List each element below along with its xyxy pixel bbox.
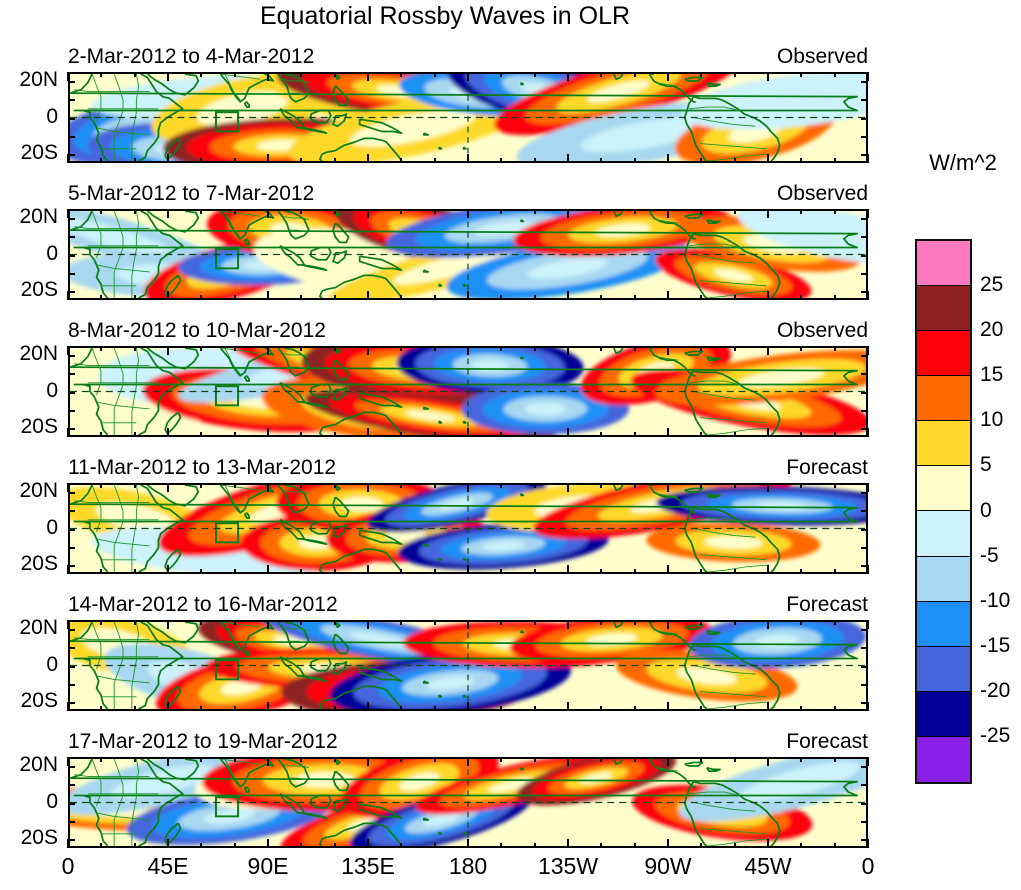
x-axis-tick [334,483,336,488]
x-axis-tick [734,706,736,711]
panel-status-label: Forecast [786,456,868,480]
x-axis-tick [534,72,536,77]
x-axis-tick [367,346,369,355]
map-panel-5[interactable]: 14-Mar-2012 to 16-Mar-2012Forecast20N020… [68,620,868,711]
olr-anomaly-field [70,348,866,435]
x-axis-tick [134,569,136,574]
x-axis-tick [767,839,769,848]
y-axis-tick [68,136,75,138]
y-axis-tick [861,81,868,83]
map-panel-6[interactable]: 17-Mar-2012 to 19-Mar-2012Forecast20N020… [68,757,868,848]
x-axis-tick [634,209,636,214]
x-axis-tick [100,706,102,711]
x-axis-tick [167,72,169,81]
x-axis-tick [234,483,236,488]
x-axis-tick [334,72,336,77]
x-axis-tick [167,209,169,218]
x-axis-tick [767,620,769,629]
y-tick-label: 0 [0,105,58,129]
x-axis-tick [500,432,502,437]
x-axis-tick [567,428,569,437]
y-tick-label: 20N [0,342,58,366]
x-axis-tick [100,569,102,574]
y-tick-label: 0 [0,379,58,403]
x-axis-tick [367,702,369,711]
y-axis-tick [68,510,75,512]
x-axis-tick [234,706,236,711]
x-axis-tick [634,483,636,488]
x-axis-tick [167,428,169,437]
y-tick-label: 20S [0,278,58,302]
x-axis-tick [567,565,569,574]
x-axis-tick [734,158,736,163]
x-axis-tick [400,706,402,711]
x-axis-tick [634,569,636,574]
x-axis-tick [667,620,669,629]
x-axis-tick [234,843,236,848]
x-axis-tick [267,291,269,300]
x-axis-tick [800,483,802,488]
x-axis-tick [300,158,302,163]
x-axis-tick [534,158,536,163]
x-axis-tick [467,565,469,574]
colorbar-swatch [917,376,970,421]
y-axis-tick [861,255,868,257]
x-axis-tick [667,72,669,81]
x-axis-tick [434,620,436,625]
x-axis-tick [567,209,569,218]
x-axis-tick [267,702,269,711]
colorbar[interactable] [915,239,972,784]
x-tick-label: 135E [323,853,413,880]
y-axis-tick [68,821,75,823]
x-axis-tick [267,483,269,492]
map-panel-3[interactable]: 8-Mar-2012 to 10-Mar-2012Observed20N020S [68,346,868,437]
y-axis-tick [861,510,868,512]
y-tick-label: 20S [0,141,58,165]
x-axis-tick [300,72,302,77]
x-tick-label: 90E [223,853,313,880]
y-axis-tick [861,784,868,786]
x-axis-tick [667,702,669,711]
x-axis-tick [334,569,336,574]
x-axis-tick [467,620,469,629]
colorbar-tick-label: -15 [980,634,1010,658]
x-axis-tick [534,483,536,488]
x-axis-tick [434,569,436,574]
figure-title: Equatorial Rossby Waves in OLR [0,2,890,31]
x-axis-tick [834,757,836,762]
x-axis-tick [800,620,802,625]
x-axis-tick [567,483,569,492]
x-axis-tick [734,72,736,77]
x-axis-tick [634,295,636,300]
x-axis-tick [100,209,102,214]
y-axis-tick [68,255,75,257]
x-axis-tick [734,620,736,625]
x-axis-tick [334,706,336,711]
panel-plot-area [68,620,868,711]
colorbar-tick-label: 10 [980,408,1003,432]
y-tick-label: 20N [0,479,58,503]
x-axis-tick [534,346,536,351]
x-axis-tick [500,569,502,574]
colorbar-tick-label: -5 [980,544,999,568]
x-axis-tick [67,757,69,766]
x-axis-tick [800,843,802,848]
olr-anomaly-field [70,74,866,161]
y-axis-tick [861,647,868,649]
x-axis-tick [667,839,669,848]
x-axis-tick [134,483,136,488]
x-axis-tick [600,757,602,762]
x-axis-tick [367,72,369,81]
x-axis-tick [234,620,236,625]
x-axis-tick [534,569,536,574]
x-axis-tick [767,346,769,355]
y-axis-tick [68,273,75,275]
y-axis-tick [68,355,75,357]
x-axis-tick [100,757,102,762]
y-axis-tick [68,784,75,786]
y-axis-tick [68,839,75,841]
y-axis-tick [68,154,75,156]
y-axis-tick [68,647,75,649]
x-axis-tick [200,295,202,300]
x-axis-tick [534,620,536,625]
x-axis-tick [800,158,802,163]
y-axis-tick [68,392,75,394]
panel-plot-area [68,209,868,300]
x-axis-tick [867,154,869,163]
x-axis-tick [267,839,269,848]
x-axis-tick [367,565,369,574]
y-axis-tick [68,629,75,631]
x-tick-label: 135W [523,853,613,880]
x-axis-tick [600,295,602,300]
x-axis-tick [334,346,336,351]
x-axis-tick [334,757,336,762]
x-axis-tick [300,432,302,437]
y-axis-tick [68,803,75,805]
y-axis-tick [68,373,75,375]
y-axis-tick [861,529,868,531]
x-axis-tick [767,209,769,218]
olr-anomaly-field [70,759,866,846]
colorbar-swatch [917,331,970,376]
panel-plot-area [68,757,868,848]
x-axis-tick [434,158,436,163]
figure-root: Equatorial Rossby Waves in OLR 2-Mar-201… [0,0,1021,890]
x-axis-tick [600,158,602,163]
colorbar-tick-label: 20 [980,318,1003,342]
map-panel-1[interactable]: 2-Mar-2012 to 4-Mar-2012Observed20N020S [68,72,868,163]
x-axis-tick [767,757,769,766]
x-axis-tick [700,295,702,300]
x-axis-tick [234,209,236,214]
x-axis-tick [834,72,836,77]
y-axis-tick [68,428,75,430]
x-axis-tick [300,209,302,214]
x-axis-tick [867,72,869,81]
x-axis-tick [400,295,402,300]
y-axis-tick [861,118,868,120]
x-axis-tick [600,209,602,214]
x-axis-tick [600,843,602,848]
x-axis-tick [567,346,569,355]
x-axis-tick [467,209,469,218]
x-axis-tick [300,620,302,625]
colorbar-swatch [917,647,970,692]
x-axis-tick [67,620,69,629]
y-axis-tick [68,684,75,686]
x-axis-tick [367,839,369,848]
x-axis-tick [334,843,336,848]
panel-status-label: Observed [777,319,868,343]
x-axis-tick [467,72,469,81]
x-tick-label: 45E [123,853,213,880]
x-axis-tick [567,839,569,848]
x-axis-tick [134,209,136,214]
x-axis-tick [200,346,202,351]
y-axis-tick [861,684,868,686]
x-axis-tick [834,432,836,437]
x-axis-tick [434,432,436,437]
x-axis-tick [167,346,169,355]
y-axis-tick [68,81,75,83]
x-axis-tick [100,843,102,848]
colorbar-swatch [917,286,970,331]
x-axis-tick [667,346,669,355]
x-axis-tick [200,432,202,437]
x-axis-tick [534,757,536,762]
y-axis-tick [861,821,868,823]
colorbar-swatch [917,692,970,737]
x-axis-tick [300,483,302,488]
colorbar-swatch [917,557,970,602]
x-axis-tick [567,757,569,766]
x-axis-tick [367,620,369,629]
x-axis-tick [534,209,536,214]
y-axis-tick [68,547,75,549]
x-axis-tick [100,620,102,625]
x-axis-tick [434,209,436,214]
x-axis-tick [500,620,502,625]
x-axis-tick [834,346,836,351]
colorbar-swatch [917,511,970,556]
x-axis-tick [300,346,302,351]
x-axis-tick [700,72,702,77]
x-axis-tick [667,209,669,218]
x-axis-tick [767,72,769,81]
x-tick-label: 0 [823,853,913,880]
x-axis-tick [634,432,636,437]
x-axis-tick [200,569,202,574]
panel-plot-area [68,483,868,574]
colorbar-swatch [917,421,970,466]
y-axis-tick [68,410,75,412]
x-axis-tick [500,295,502,300]
x-axis-tick [767,291,769,300]
x-axis-tick [434,72,436,77]
x-axis-tick [434,843,436,848]
x-axis-tick [834,620,836,625]
x-axis-tick [634,620,636,625]
x-axis-tick [567,702,569,711]
x-axis-tick [234,432,236,437]
x-axis-tick [334,295,336,300]
y-axis-tick [861,218,868,220]
x-axis-tick [167,565,169,574]
y-tick-label: 20N [0,205,58,229]
colorbar-units-label: W/m^2 [908,150,1018,176]
x-axis-tick [500,843,502,848]
y-tick-label: 20N [0,68,58,92]
y-axis-tick [861,492,868,494]
x-axis-tick [234,158,236,163]
map-panel-2[interactable]: 5-Mar-2012 to 7-Mar-2012Observed20N020S [68,209,868,300]
x-axis-tick [667,154,669,163]
y-axis-tick [68,236,75,238]
x-axis-tick [400,158,402,163]
panel-status-label: Observed [777,182,868,206]
y-axis-tick [68,766,75,768]
x-axis-tick [567,291,569,300]
x-axis-tick [734,757,736,762]
x-axis-tick [700,706,702,711]
x-axis-tick [567,154,569,163]
x-axis-tick [300,843,302,848]
x-axis-tick [634,158,636,163]
y-tick-label: 20N [0,753,58,777]
x-axis-tick [734,432,736,437]
y-axis-tick [861,410,868,412]
x-axis-tick [800,706,802,711]
x-axis-tick [634,843,636,848]
x-axis-tick [434,346,436,351]
x-axis-tick [367,483,369,492]
x-axis-tick [200,483,202,488]
x-axis-tick [467,428,469,437]
x-axis-tick [100,72,102,77]
x-axis-tick [200,706,202,711]
x-axis-tick [400,346,402,351]
colorbar-tick-label: -10 [980,589,1010,613]
x-axis-tick [134,432,136,437]
x-axis-tick [800,757,802,762]
colorbar-tick-label: 25 [980,273,1003,297]
x-axis-tick [700,209,702,214]
y-tick-label: 20S [0,552,58,576]
x-axis-tick [467,702,469,711]
panel-status-label: Forecast [786,593,868,617]
y-axis-tick [861,766,868,768]
x-axis-tick [67,702,69,711]
olr-anomaly-field [70,622,866,709]
x-axis-tick [567,72,569,81]
colorbar-tick-label: 15 [980,363,1003,387]
x-axis-tick [867,209,869,218]
colorbar-tick-label: 0 [980,499,992,523]
x-axis-tick [800,569,802,574]
y-axis-tick [68,218,75,220]
x-axis-tick [234,757,236,762]
map-panel-4[interactable]: 11-Mar-2012 to 13-Mar-2012Forecast20N020… [68,483,868,574]
x-axis-tick [867,483,869,492]
x-axis-tick [667,757,669,766]
y-axis-tick [68,666,75,668]
x-axis-tick [800,72,802,77]
panel-plot-area [68,346,868,437]
x-axis-tick [267,346,269,355]
x-axis-tick [534,295,536,300]
x-axis-tick [700,346,702,351]
x-axis-tick [234,346,236,351]
x-axis-tick [734,295,736,300]
x-axis-tick [667,291,669,300]
x-axis-tick [600,72,602,77]
x-axis-tick [434,295,436,300]
x-axis-tick [667,428,669,437]
x-axis-tick [800,209,802,214]
x-axis-tick [300,569,302,574]
x-axis-tick [834,209,836,214]
colorbar-swatch [917,602,970,647]
x-axis-tick [867,565,869,574]
y-axis-tick [861,273,868,275]
x-axis-tick [167,839,169,848]
colorbar-swatch [917,466,970,511]
x-axis-tick [400,72,402,77]
x-axis-tick [867,620,869,629]
x-axis-tick [700,158,702,163]
x-axis-tick [300,295,302,300]
y-axis-tick [861,392,868,394]
y-axis-tick [68,118,75,120]
panel-status-label: Forecast [786,730,868,754]
x-axis-tick [67,154,69,163]
olr-anomaly-field [70,211,866,298]
x-axis-tick [800,346,802,351]
x-axis-tick [100,432,102,437]
x-axis-tick [134,72,136,77]
x-axis-tick [600,432,602,437]
x-axis-tick [67,483,69,492]
x-axis-tick [167,620,169,629]
x-axis-tick [67,209,69,218]
x-axis-tick [200,843,202,848]
x-axis-tick [500,483,502,488]
x-axis-tick [267,620,269,629]
x-axis-tick [700,757,702,762]
x-axis-tick [67,565,69,574]
x-axis-tick [767,483,769,492]
colorbar-tick-label: 5 [980,453,992,477]
x-axis-tick [834,569,836,574]
x-axis-tick [467,483,469,492]
x-axis-tick [734,209,736,214]
x-axis-tick [234,72,236,77]
x-axis-tick [167,154,169,163]
panel-date-range: 8-Mar-2012 to 10-Mar-2012 [68,319,326,343]
x-axis-tick [467,757,469,766]
panel-status-label: Observed [777,45,868,69]
x-axis-tick [700,843,702,848]
x-axis-tick [634,757,636,762]
x-axis-tick [434,483,436,488]
panel-date-range: 5-Mar-2012 to 7-Mar-2012 [68,182,314,206]
x-axis-tick [267,209,269,218]
